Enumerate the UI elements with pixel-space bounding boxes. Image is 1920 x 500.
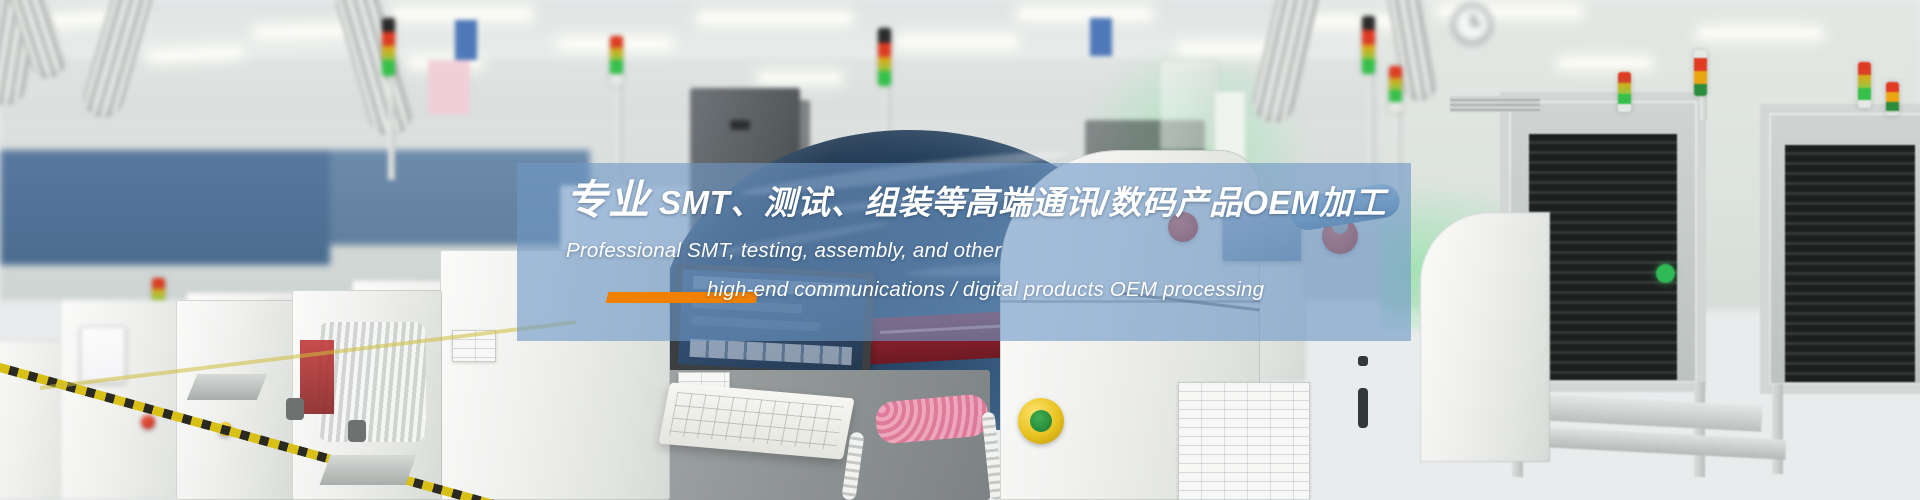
estop-inner	[1030, 410, 1052, 432]
machine-handle	[1358, 356, 1368, 366]
rack-slots	[1529, 134, 1677, 380]
machine-document-holder	[1178, 382, 1310, 500]
smt-machine	[176, 300, 296, 500]
signal-tower-light	[1886, 82, 1899, 116]
headline: 专业SMT、测试、组装等高端通讯/数码产品OEM加工	[517, 169, 1411, 234]
machine-caster	[286, 398, 304, 420]
pcb-magazine-rack	[1760, 104, 1920, 394]
machine-caster	[348, 420, 366, 442]
machine-handle	[1358, 388, 1368, 428]
emergency-stop-button	[1018, 398, 1064, 444]
metal-tray	[320, 455, 417, 485]
rack-leg	[1772, 384, 1783, 474]
hero-banner: 专业SMT、测试、组装等高端通讯/数码产品OEM加工 Professional …	[0, 0, 1920, 500]
signal-tower-light	[1858, 62, 1871, 108]
metal-tray	[187, 374, 268, 400]
rack-leg	[1694, 382, 1705, 477]
subtitle-line-1: Professional SMT, testing, assembly, and…	[566, 239, 1001, 263]
headline-rest: SMT、测试、组装等高端通讯/数码产品OEM加工	[659, 184, 1386, 221]
signal-tower-light	[1618, 72, 1631, 112]
subtitle-line-2: high-end communications / digital produc…	[707, 278, 1264, 302]
wall-vent	[1450, 96, 1540, 112]
rack-status-dot	[1656, 264, 1675, 283]
monitor-button-bar	[689, 338, 852, 364]
hero-text-overlay: 专业SMT、测试、组装等高端通讯/数码产品OEM加工 Professional …	[517, 163, 1411, 341]
reflow-oven	[1420, 212, 1550, 462]
signal-tower-light	[1694, 50, 1707, 96]
rack-slots	[1785, 145, 1915, 383]
keyboard-keys	[669, 392, 843, 451]
headline-emphasis: 专业	[566, 177, 650, 223]
